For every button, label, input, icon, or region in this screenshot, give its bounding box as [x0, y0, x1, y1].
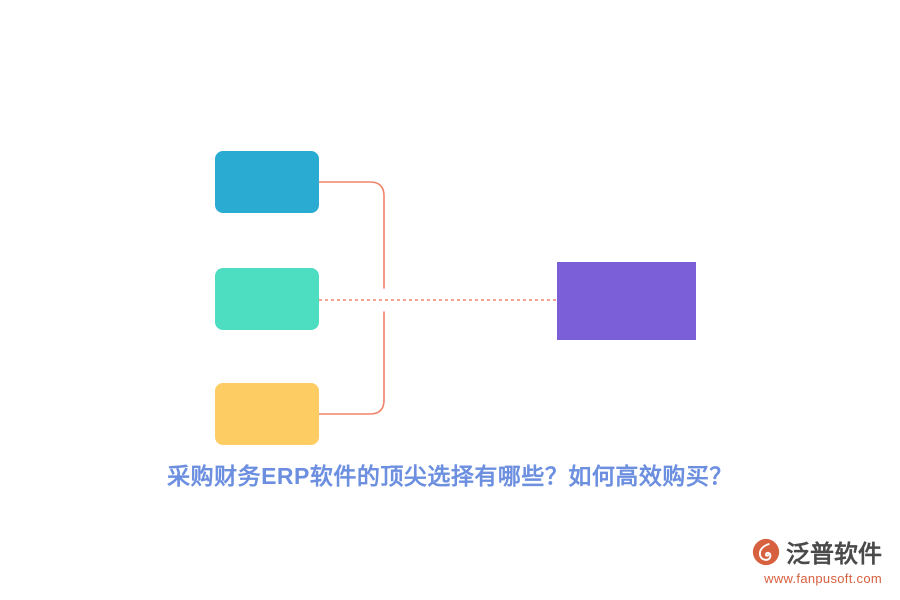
fanpu-logo-icon [752, 538, 780, 566]
watermark: 泛普软件 www.fanpusoft.com [752, 534, 882, 586]
brand-name: 泛普软件 [786, 534, 882, 569]
diagram-canvas: 采购财务ERP软件的顶尖选择有哪些？如何高效购买？ 泛普软件 www.fanpu… [0, 0, 900, 600]
diagram-node-yellow [215, 383, 319, 445]
diagram-node-purple [557, 262, 696, 340]
diagram-node-blue [215, 151, 319, 213]
brand-url: www.fanpusoft.com [764, 571, 882, 586]
watermark-brand-row: 泛普软件 [752, 534, 882, 569]
caption-text: 采购财务ERP软件的顶尖选择有哪些？如何高效购买？ [0, 457, 900, 491]
connector-lines [0, 0, 900, 600]
diagram-node-green [215, 268, 319, 330]
